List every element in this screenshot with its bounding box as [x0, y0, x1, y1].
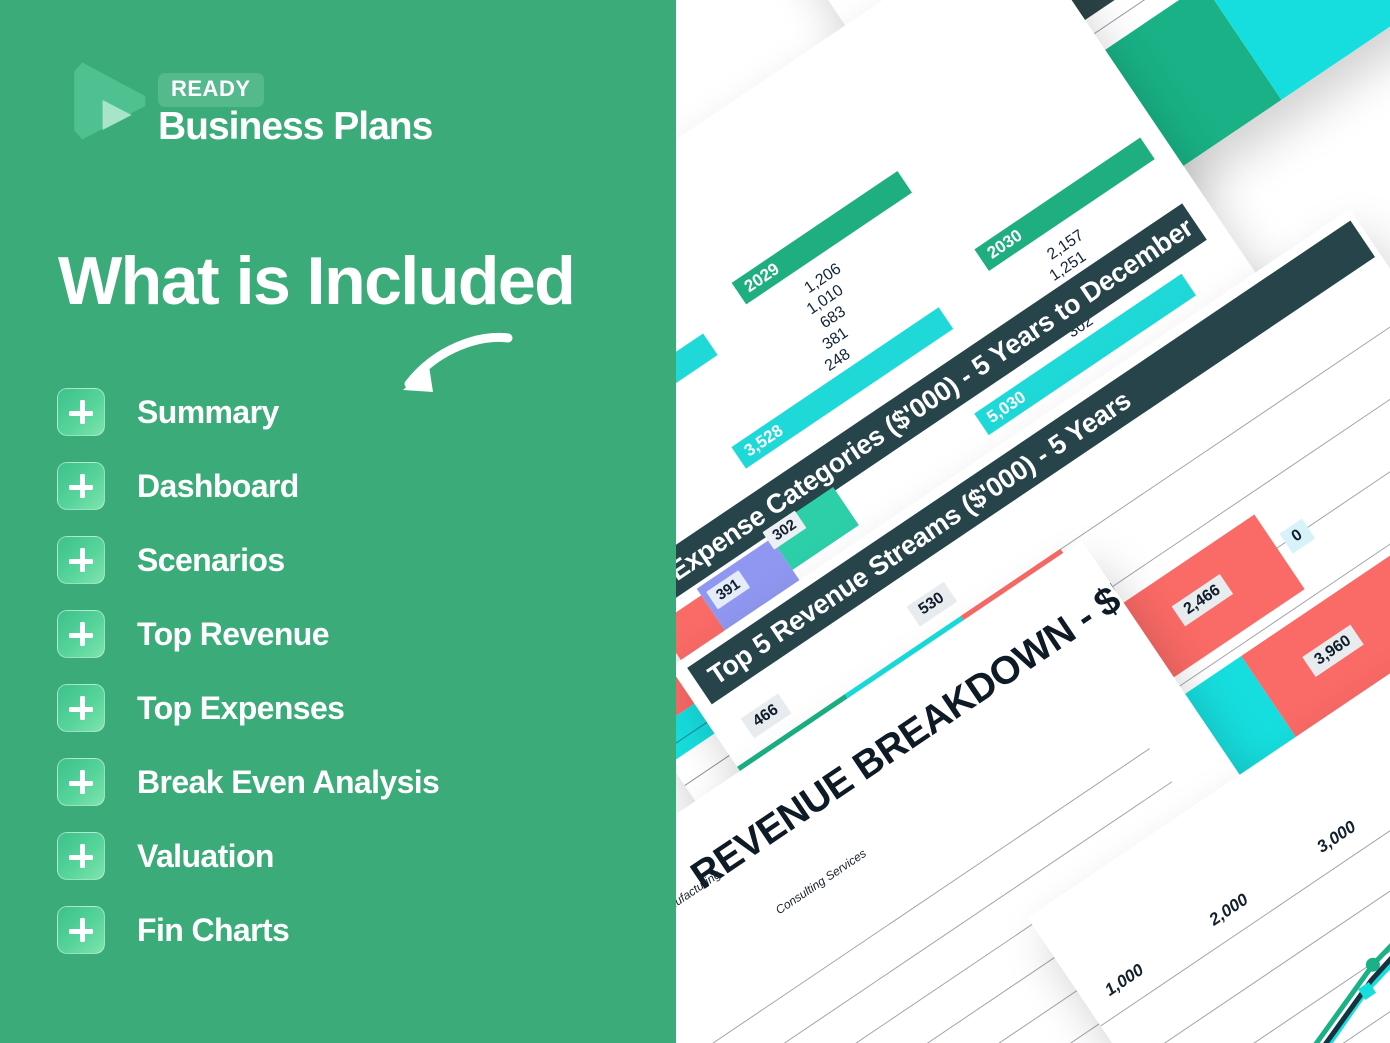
- page-title: What is Included: [58, 247, 574, 315]
- left-green-panel: READY Business Plans What is Included Su…: [0, 0, 676, 1043]
- feature-item-scenarios[interactable]: Scenarios: [57, 534, 657, 586]
- play-triangle-outer: [72, 60, 146, 142]
- plus-icon: [57, 832, 105, 880]
- feature-label: Dashboard: [137, 468, 299, 505]
- feature-label: Top Expenses: [137, 690, 344, 727]
- plus-icon: [57, 388, 105, 436]
- feature-label: Fin Charts: [137, 912, 289, 949]
- bar-value-466: 466: [741, 694, 791, 739]
- brand-logo-row[interactable]: READY Business Plans: [70, 57, 490, 149]
- feature-item-valuation[interactable]: Valuation: [57, 830, 657, 882]
- feature-item-summary[interactable]: Summary: [57, 386, 657, 438]
- feature-label: Valuation: [137, 838, 274, 875]
- bar-value-530: 530: [907, 582, 957, 627]
- feature-label: Summary: [137, 394, 279, 431]
- feature-label: Scenarios: [137, 542, 285, 579]
- feature-label: Break Even Analysis: [137, 764, 439, 801]
- feature-label: Top Revenue: [137, 616, 329, 653]
- plus-icon: [57, 536, 105, 584]
- feature-item-break-even-analysis[interactable]: Break Even Analysis: [57, 756, 657, 808]
- plus-icon: [57, 684, 105, 732]
- plus-icon: [57, 758, 105, 806]
- feature-item-fin-charts[interactable]: Fin Charts: [57, 904, 657, 956]
- ready-badge: READY: [158, 73, 264, 107]
- feature-list: Summary Dashboard Scenarios Top Revenue …: [57, 386, 657, 978]
- plus-icon: [57, 906, 105, 954]
- feature-item-dashboard[interactable]: Dashboard: [57, 460, 657, 512]
- brand-name: Business Plans: [158, 105, 432, 150]
- plus-icon: [57, 610, 105, 658]
- plus-icon: [57, 462, 105, 510]
- breakdown-legend-consulting: Consulting Services: [773, 846, 869, 917]
- feature-item-top-expenses[interactable]: Top Expenses: [57, 682, 657, 734]
- feature-item-top-revenue[interactable]: Top Revenue: [57, 608, 657, 660]
- play-triangle-icon: [70, 57, 148, 145]
